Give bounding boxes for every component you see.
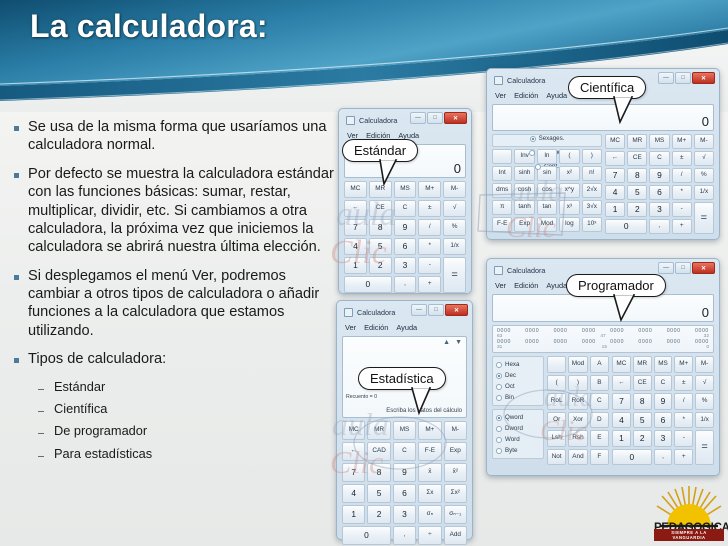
bullet-item: Por defecto se muestra la calculadora es…	[8, 165, 338, 257]
key-[interactable]: ←	[605, 151, 625, 166]
key-0[interactable]: 0	[612, 449, 652, 466]
window-title: Calculadora	[507, 266, 545, 275]
key-exp[interactable]: Exp	[514, 217, 534, 232]
key-fe[interactable]: F-E	[418, 442, 441, 461]
key-8[interactable]: 8	[627, 168, 647, 183]
key-c[interactable]: C	[394, 200, 417, 217]
key-[interactable]: /	[418, 219, 441, 236]
window-title: Calculadora	[357, 308, 395, 317]
bit-group[interactable]: 0000	[582, 328, 596, 334]
callout-programador: Programador	[566, 274, 666, 297]
calculator-icon	[494, 76, 503, 85]
display-value: 0	[702, 114, 709, 129]
key-9[interactable]: 9	[649, 168, 669, 183]
bullet-marker-icon	[14, 275, 19, 280]
key-[interactable]: /	[672, 168, 692, 183]
key-add[interactable]: Add	[444, 526, 467, 545]
sub-list-item: Científica	[38, 401, 338, 416]
window-controls[interactable]: — □ ✕	[658, 72, 715, 84]
key-ce[interactable]: CE	[633, 375, 652, 392]
key-x[interactable]: x³	[559, 200, 579, 215]
key-cosh[interactable]: cosh	[514, 183, 534, 198]
key-[interactable]: %	[443, 219, 466, 236]
bit-group[interactable]: 0000	[667, 328, 681, 334]
radio-dot-icon	[529, 150, 535, 156]
key-xy[interactable]: x^y	[559, 183, 579, 198]
sub-list-item: De programador	[38, 423, 338, 438]
callout-estandar: Estándar	[342, 139, 418, 162]
key-[interactable]: +	[672, 219, 692, 234]
close-button[interactable]: ✕	[445, 304, 468, 316]
dash-marker-icon	[38, 456, 44, 457]
radio-oct[interactable]: Oct	[496, 383, 540, 390]
key-mc[interactable]: MC	[344, 181, 367, 198]
key-ce[interactable]: CE	[369, 200, 392, 217]
key-8[interactable]: 8	[367, 463, 390, 482]
key-[interactable]: ,	[394, 276, 417, 293]
key-c[interactable]: C	[649, 151, 669, 166]
key-or[interactable]: Or	[547, 412, 566, 429]
menu-ayuda[interactable]: Ayuda	[546, 91, 567, 100]
key-4[interactable]: 4	[612, 412, 631, 429]
key-3[interactable]: 3	[654, 430, 673, 447]
key-4[interactable]: 4	[605, 185, 625, 200]
key-cos[interactable]: cos	[537, 183, 557, 198]
key-[interactable]: *	[674, 412, 693, 429]
dash-marker-icon	[38, 433, 44, 434]
key-rol[interactable]: RoL	[547, 393, 566, 410]
bit-group[interactable]: 0000	[525, 328, 539, 334]
display: 0	[492, 294, 714, 322]
bullet-marker-icon	[14, 173, 19, 178]
radio-dot-icon	[535, 164, 541, 170]
key-m[interactable]: M-	[443, 181, 466, 198]
key-1[interactable]: 1	[342, 505, 365, 524]
key-x[interactable]: x̄²	[444, 463, 467, 482]
key-cad[interactable]: CAD	[367, 442, 390, 461]
key-m[interactable]: M-	[444, 421, 467, 440]
key-[interactable]: *	[672, 185, 692, 200]
key-[interactable]: σₙ₋₁	[444, 505, 467, 524]
maximize-button[interactable]: □	[427, 112, 443, 124]
key-c[interactable]: C	[654, 375, 673, 392]
key-2[interactable]: 2	[367, 505, 390, 524]
callout-tail	[378, 158, 408, 188]
bit-group[interactable]: 0000	[554, 328, 568, 334]
key-tan[interactable]: tan	[537, 200, 557, 215]
radio-dot-icon	[530, 136, 536, 142]
key-10[interactable]: 10ˣ	[582, 217, 602, 232]
minimize-button[interactable]: —	[658, 72, 674, 84]
bullet-text: Tipos de calculadora:	[28, 350, 166, 368]
key-8[interactable]: 8	[369, 219, 392, 236]
key-5[interactable]: 5	[633, 412, 652, 429]
menu-edicion[interactable]: Edición	[514, 281, 538, 290]
key-m[interactable]: M+	[672, 134, 692, 149]
callout-tail	[410, 386, 440, 416]
close-button[interactable]: ✕	[692, 72, 715, 84]
key-x[interactable]: Σx²	[444, 484, 467, 503]
key-mc[interactable]: MC	[605, 134, 625, 149]
key-0[interactable]: 0	[344, 276, 392, 293]
scroll-up-icon[interactable]: ▲	[443, 339, 450, 346]
key-rsh[interactable]: Rsh	[568, 430, 587, 447]
radio-dot-icon	[496, 426, 502, 432]
key-6[interactable]: 6	[649, 185, 669, 200]
bit-group[interactable]: 0000	[638, 328, 652, 334]
keypad-standard[interactable]: MCMRMSM+M-←CEC±√789/%456*1/x123-=0,+	[342, 181, 468, 295]
radio-dword[interactable]: Dword	[496, 425, 540, 432]
key-b[interactable]: B	[590, 375, 609, 392]
key-[interactable]: ±	[672, 151, 692, 166]
key-[interactable]: -	[674, 430, 693, 447]
key-[interactable]: π	[492, 200, 512, 215]
key-ror[interactable]: RoR	[568, 393, 587, 410]
key-0[interactable]: 0	[342, 526, 391, 545]
key-[interactable]: ←	[612, 375, 631, 392]
key-blank[interactable]	[492, 149, 512, 164]
dash-marker-icon	[38, 389, 44, 390]
key-[interactable]: (	[547, 375, 566, 392]
window-controls[interactable]: — □ ✕	[658, 262, 715, 274]
minimize-button[interactable]: —	[658, 262, 674, 274]
key-1x[interactable]: 1/x	[443, 238, 466, 255]
key-7[interactable]: 7	[342, 463, 365, 482]
sub-item-label: De programador	[54, 423, 147, 438]
key-[interactable]: =	[443, 257, 466, 293]
key-1[interactable]: 1	[612, 430, 631, 447]
key-[interactable]: ←	[344, 200, 367, 217]
page-title: La calculadora:	[30, 8, 268, 45]
callout-estadistica: Estadística	[358, 367, 446, 390]
key-[interactable]: ←	[342, 442, 365, 461]
keypad-scientific-numeric[interactable]: MCMRMSM+M-←CEC±√789/%456*1/x123-=0,+	[605, 134, 714, 234]
window-title: Calculadora	[359, 116, 397, 125]
key-[interactable]: %	[694, 168, 714, 183]
key-[interactable]: )	[568, 375, 587, 392]
key-7[interactable]: 7	[612, 393, 631, 410]
bit-group[interactable]: 0000	[525, 339, 539, 345]
key-9[interactable]: 9	[393, 463, 416, 482]
menubar[interactable]: Ver Edición Ayuda	[340, 321, 469, 334]
key-sinh[interactable]: sinh	[514, 166, 534, 181]
bullet-marker-icon	[14, 126, 19, 131]
callout-cientifica: Científica	[568, 76, 646, 99]
display: 0	[492, 104, 714, 131]
key-5[interactable]: 5	[369, 238, 392, 255]
radio-dot-icon	[496, 362, 502, 368]
key-[interactable]: )	[582, 149, 602, 164]
bit-group[interactable]: 0000	[638, 339, 652, 345]
sub-list-item: Para estadísticas	[38, 446, 338, 461]
key-[interactable]: -	[418, 257, 441, 274]
key-mr[interactable]: MR	[633, 356, 652, 373]
sub-item-label: Estándar	[54, 379, 105, 394]
radio-hexa[interactable]: Hexa	[496, 361, 540, 368]
minimize-button[interactable]: —	[410, 112, 426, 124]
slide-body-text: Se usa de la misma forma que usaríamos u…	[8, 118, 338, 468]
key-6[interactable]: 6	[654, 412, 673, 429]
key-not[interactable]: Not	[547, 449, 566, 466]
key-blank[interactable]	[547, 356, 566, 373]
key-m[interactable]: M-	[694, 134, 714, 149]
sub-item-label: Para estadísticas	[54, 446, 152, 461]
key-[interactable]: ±	[674, 375, 693, 392]
key-c[interactable]: C	[393, 442, 416, 461]
maximize-button[interactable]: □	[428, 304, 444, 316]
dash-marker-icon	[38, 411, 44, 412]
key-[interactable]: /	[674, 393, 693, 410]
bullet-text: Por defecto se muestra la calculadora es…	[28, 165, 338, 257]
count-label: Recuento = 0	[346, 394, 377, 400]
key-7[interactable]: 7	[605, 168, 625, 183]
window-title: Calculadora	[507, 76, 545, 85]
minimize-button[interactable]: —	[411, 304, 427, 316]
bit-labels-low: 31 15 0	[497, 345, 709, 350]
key-mr[interactable]: MR	[627, 134, 647, 149]
key-[interactable]: ,	[393, 526, 416, 545]
key-3x[interactable]: 3√x	[582, 200, 602, 215]
bullet-item: Si desplegamos el menú Ver, podremos cam…	[8, 267, 338, 341]
key-m[interactable]: M-	[695, 356, 714, 373]
key-9[interactable]: 9	[654, 393, 673, 410]
key-5[interactable]: 5	[627, 185, 647, 200]
key-2x[interactable]: 2√x	[582, 183, 602, 198]
key-9[interactable]: 9	[394, 219, 417, 236]
key-7[interactable]: 7	[344, 219, 367, 236]
radio-qword[interactable]: Qword	[496, 414, 540, 421]
key-[interactable]: +	[674, 449, 693, 466]
base-mode-group[interactable]: Hexa Dec Oct Bin	[492, 356, 544, 406]
radio-dot-icon	[496, 373, 502, 379]
logo-tagline: SIEMPRE A LA VANGUARDIA	[654, 529, 724, 541]
display-value: 0	[454, 161, 461, 176]
key-2[interactable]: 2	[633, 430, 652, 447]
key-[interactable]: √	[695, 375, 714, 392]
window-controls[interactable]: — □ ✕	[410, 112, 467, 124]
close-button[interactable]: ✕	[444, 112, 467, 124]
key-d[interactable]: D	[590, 412, 609, 429]
key-and[interactable]: And	[568, 449, 587, 466]
key-mc[interactable]: MC	[342, 421, 365, 440]
menu-ayuda[interactable]: Ayuda	[546, 281, 567, 290]
key-[interactable]: √	[443, 200, 466, 217]
callout-tail	[612, 293, 644, 323]
key-ce[interactable]: CE	[627, 151, 647, 166]
key-1x[interactable]: 1/x	[694, 185, 714, 200]
key-5[interactable]: 5	[367, 484, 390, 503]
key-ms[interactable]: MS	[649, 134, 669, 149]
titlebar[interactable]: Calculadora — □ ✕	[340, 304, 469, 320]
maximize-button[interactable]: □	[675, 262, 691, 274]
key-int[interactable]: Int	[492, 166, 512, 181]
key-[interactable]: ,	[649, 219, 669, 234]
key-mod[interactable]: Mod	[537, 217, 557, 232]
key-[interactable]: ,	[654, 449, 673, 466]
key-c[interactable]: C	[590, 393, 609, 410]
key-3[interactable]: 3	[393, 505, 416, 524]
key-tanh[interactable]: tanh	[514, 200, 534, 215]
key-lsh[interactable]: Lsh	[547, 430, 566, 447]
radio-dot-icon	[496, 384, 502, 390]
key-3[interactable]: 3	[394, 257, 417, 274]
key-[interactable]: ±	[418, 200, 441, 217]
bit-group[interactable]: 0000	[582, 339, 596, 345]
keypad-statistics[interactable]: MCMRMSM+M-←CADCF-EExp789x̄x̄²456ΣxΣx²123…	[340, 421, 469, 546]
radio-dot-icon	[496, 415, 502, 421]
key-mr[interactable]: MR	[367, 421, 390, 440]
key-[interactable]: (	[559, 149, 579, 164]
menu-ver[interactable]: Ver	[495, 281, 506, 290]
key-m[interactable]: M+	[418, 181, 441, 198]
radio-dot-icon	[496, 448, 502, 454]
key-mc[interactable]: MC	[612, 356, 631, 373]
key-[interactable]: %	[695, 393, 714, 410]
key-2[interactable]: 2	[369, 257, 392, 274]
key-[interactable]: -	[672, 202, 692, 217]
key-[interactable]: =	[694, 202, 714, 234]
key-[interactable]: σₙ	[418, 505, 441, 524]
titlebar[interactable]: Calculadora — □ ✕	[342, 112, 468, 128]
radio-dec[interactable]: Dec	[496, 372, 540, 379]
key-[interactable]: ÷	[418, 526, 441, 545]
key-[interactable]: *	[418, 238, 441, 255]
scroll-down-icon[interactable]: ▼	[455, 339, 462, 346]
bullet-item: Tipos de calculadora:	[8, 350, 338, 368]
key-[interactable]: =	[695, 430, 714, 465]
sub-list-item: Estándar	[38, 379, 338, 394]
callout-tail	[612, 95, 642, 125]
radio-sexages[interactable]: Sexages.	[530, 135, 565, 142]
calculator-window-statistics[interactable]: Calculadora — □ ✕ Ver Edición Ayuda ▲ ▼ …	[336, 300, 473, 540]
menu-edicion[interactable]: Edición	[514, 91, 538, 100]
bit-group[interactable]: 0000	[667, 339, 681, 345]
bullet-item: Se usa de la misma forma que usaríamos u…	[8, 118, 338, 155]
key-n[interactable]: n!	[582, 166, 602, 181]
menu-edicion[interactable]: Edición	[364, 323, 388, 332]
bit-group[interactable]: 0000	[554, 339, 568, 345]
key-xor[interactable]: Xor	[568, 412, 587, 429]
key-fe[interactable]: F-E	[492, 217, 512, 232]
key-dms[interactable]: dms	[492, 183, 512, 198]
key-x[interactable]: x²	[559, 166, 579, 181]
keypad-scientific-functions[interactable]: Invln()Intsinhsinx²n!dmscoshcosx^y2√xπta…	[492, 149, 602, 232]
keypad-programmer-logic[interactable]: ModA()BRoLRoRCOrXorDLshRshENotAndF	[547, 356, 609, 465]
calculator-icon	[346, 116, 355, 125]
radio-byte[interactable]: Byte	[496, 447, 540, 454]
bit-group[interactable]: 0000	[610, 328, 624, 334]
key-f[interactable]: F	[590, 449, 609, 466]
key-exp[interactable]: Exp	[444, 442, 467, 461]
key-8[interactable]: 8	[633, 393, 652, 410]
organization-logo: EL SALVADOR PEDAGOGICA SIEMPRE A LA VANG…	[654, 486, 724, 544]
keypad-programmer-numeric[interactable]: MCMRMSM+M-←CEC±√789/%456*1/x123-=0,+	[612, 356, 714, 465]
key-ms[interactable]: MS	[393, 421, 416, 440]
key-e[interactable]: E	[590, 430, 609, 447]
angle-mode-group[interactable]: Sexages. Radianes Cent.	[492, 134, 602, 147]
key-ms[interactable]: MS	[654, 356, 673, 373]
key-m[interactable]: M+	[418, 421, 441, 440]
calculator-window-standard[interactable]: Calculadora — □ ✕ Ver Edición Ayuda 0 MC…	[338, 108, 472, 294]
key-[interactable]: √	[694, 151, 714, 166]
key-1[interactable]: 1	[605, 202, 625, 217]
key-1x[interactable]: 1/x	[695, 412, 714, 429]
calculator-icon	[344, 308, 353, 317]
key-4[interactable]: 4	[344, 238, 367, 255]
window-controls[interactable]: — □ ✕	[411, 304, 468, 316]
menu-ayuda[interactable]: Ayuda	[396, 323, 417, 332]
bit-group[interactable]: 0000	[610, 339, 624, 345]
key-ln[interactable]: ln	[537, 149, 557, 164]
radio-dot-icon	[496, 437, 502, 443]
radio-word[interactable]: Word	[496, 436, 540, 443]
key-a[interactable]: A	[590, 356, 609, 373]
key-0[interactable]: 0	[605, 219, 647, 234]
bit-display-panel[interactable]: 00000000000000000000000000000000 63 47 3…	[492, 325, 714, 353]
key-log[interactable]: log	[559, 217, 579, 232]
key-4[interactable]: 4	[342, 484, 365, 503]
radio-bin[interactable]: Bin	[496, 394, 540, 401]
key-x[interactable]: Σx	[418, 484, 441, 503]
key-m[interactable]: M+	[674, 356, 693, 373]
display-value: 0	[702, 305, 709, 320]
menu-ver[interactable]: Ver	[345, 323, 356, 332]
bullet-text: Si desplegamos el menú Ver, podremos cam…	[28, 267, 338, 341]
key-mod[interactable]: Mod	[568, 356, 587, 373]
key-6[interactable]: 6	[393, 484, 416, 503]
close-button[interactable]: ✕	[692, 262, 715, 274]
sub-item-label: Científica	[54, 401, 107, 416]
maximize-button[interactable]: □	[675, 72, 691, 84]
bullet-text: Se usa de la misma forma que usaríamos u…	[28, 118, 338, 155]
key-3[interactable]: 3	[649, 202, 669, 217]
key-6[interactable]: 6	[394, 238, 417, 255]
key-2[interactable]: 2	[627, 202, 647, 217]
word-size-group[interactable]: Qword Dword Word Byte	[492, 409, 544, 459]
key-[interactable]: +	[418, 276, 441, 293]
key-1[interactable]: 1	[344, 257, 367, 274]
bullet-marker-icon	[14, 358, 19, 363]
calculator-icon	[494, 266, 503, 275]
radio-dot-icon	[496, 395, 502, 401]
key-x[interactable]: x̄	[418, 463, 441, 482]
menu-ver[interactable]: Ver	[495, 91, 506, 100]
